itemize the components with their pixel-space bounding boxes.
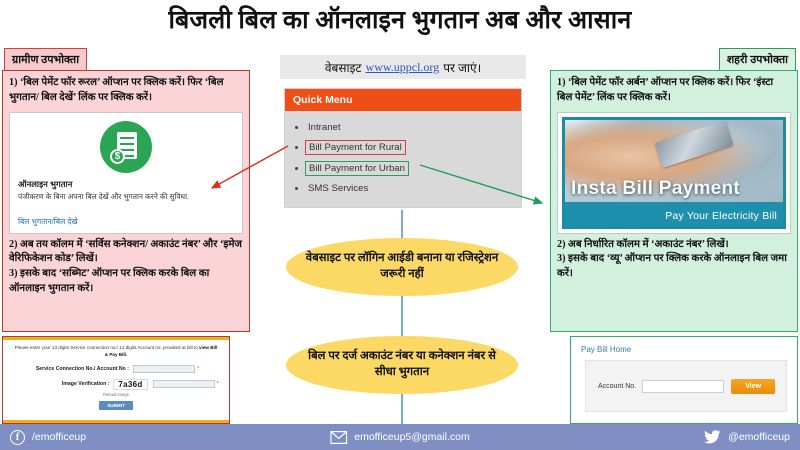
pay-bill-home-box: Account No. View bbox=[585, 360, 787, 412]
footer-email[interactable]: emofficeup5@gmail.com bbox=[330, 431, 470, 444]
rural-online-payment-card: $ ऑनलाइन भुगतान पंजीकरण के बिना अपना बिल… bbox=[9, 112, 243, 234]
rural-step-2: 2) अब तय कॉलम में ‘सर्विस कनेक्शन/ अकाउं… bbox=[9, 238, 243, 268]
reload-image-link[interactable]: Reload Image bbox=[3, 392, 229, 397]
urban-step-3: 3) इसके बाद ‘व्यू’ ऑप्शन पर क्लिक करके ऑ… bbox=[557, 252, 791, 282]
quick-menu-item-label: Bill Payment for Urban bbox=[305, 161, 409, 176]
page-title: बिजली बिल का ऑनलाइन भुगतान अब और आसान bbox=[0, 2, 800, 36]
website-strip: वेबसाइट www.uppcl.org पर जाएं। bbox=[280, 55, 526, 79]
email-address: emofficeup5@gmail.com bbox=[354, 431, 470, 443]
rural-card-heading: ऑनलाइन भुगतान bbox=[18, 179, 234, 190]
urban-insta-banner-card: Insta Bill Payment Pay Your Electricity … bbox=[557, 112, 791, 234]
website-suffix: पर जाएं। bbox=[443, 59, 481, 76]
quick-menu-item-bill-payment-urban[interactable]: Bill Payment for Urban bbox=[291, 159, 515, 178]
quick-menu-item-label: Intranet bbox=[305, 121, 344, 134]
service-connection-input[interactable] bbox=[133, 365, 195, 373]
twitter-handle: @emofficeup bbox=[728, 431, 790, 443]
facebook-handle: /emofficeup bbox=[32, 431, 86, 443]
infographic-root: बिजली बिल का ऑनलाइन भुगतान अब और आसान ग्… bbox=[0, 0, 800, 450]
view-button[interactable]: View bbox=[731, 379, 775, 394]
rural-form-note: Please enter your 13 digits Service conn… bbox=[3, 340, 229, 359]
rural-steps-2-3: 2) अब तय कॉलम में ‘सर्विस कनेक्शन/ अकाउं… bbox=[3, 234, 249, 302]
quick-menu-list: Intranet Bill Payment for Rural Bill Pay… bbox=[285, 111, 521, 207]
quick-menu-item-label: SMS Services bbox=[305, 182, 371, 195]
required-mark: * bbox=[217, 381, 219, 387]
bullet-icon bbox=[295, 126, 298, 129]
urban-panel: 1) ‘बिल पेमेंट फॉर अर्बन’ ऑप्शन पर क्लिक… bbox=[550, 70, 798, 332]
rural-step-1: 1) ‘बिल पेमेंट फॉर रूरल’ ऑप्शन पर क्लिक … bbox=[3, 71, 249, 110]
required-mark: * bbox=[197, 366, 199, 372]
uppcl-website-link[interactable]: www.uppcl.org bbox=[366, 60, 440, 75]
quick-menu-item-intranet[interactable]: Intranet bbox=[291, 119, 515, 136]
twitter-icon bbox=[704, 430, 721, 444]
quick-menu-item-bill-payment-rural[interactable]: Bill Payment for Rural bbox=[291, 138, 515, 157]
form-bottom-bar bbox=[3, 420, 229, 423]
image-verification-row: Image Verification : 7a36d * bbox=[3, 379, 229, 390]
rural-panel: 1) ‘बिल पेमेंट फॉर रूरल’ ऑप्शन पर क्लिक … bbox=[2, 70, 250, 332]
dollar-symbol: $ bbox=[110, 149, 125, 164]
rural-form-screenshot: Please enter your 13 digits Service conn… bbox=[2, 336, 230, 424]
bill-document-icon: $ bbox=[100, 121, 152, 173]
quick-menu-item-sms-services[interactable]: SMS Services bbox=[291, 180, 515, 197]
urban-step-1: 1) ‘बिल पेमेंट फॉर अर्बन’ ऑप्शन पर क्लिक… bbox=[551, 71, 797, 110]
service-connection-label: Service Connection No./ Account No : bbox=[33, 366, 129, 372]
image-verification-label: Image Verification : bbox=[13, 381, 109, 387]
badge-urban-consumer: शहरी उपभोक्ता bbox=[719, 48, 796, 72]
urban-steps-2-3: 2) अब निर्धारित कॉलम में ‘अकाउंट नंबर’ ल… bbox=[551, 234, 797, 287]
callout-no-registration: वेबसाइट पर लॉगिन आईडी बनाना या रजिस्ट्रे… bbox=[286, 238, 518, 296]
rural-step-3: 3) इसके बाद ‘सब्मिट’ ऑप्शन पर क्लिक करके… bbox=[9, 267, 243, 297]
quick-menu-item-label: Bill Payment for Rural bbox=[305, 140, 406, 155]
footer-twitter[interactable]: @emofficeup bbox=[704, 430, 790, 444]
submit-button[interactable]: SUBMIT bbox=[99, 401, 133, 410]
bullet-icon bbox=[295, 187, 298, 190]
website-prefix: वेबसाइट bbox=[325, 59, 362, 76]
badge-rural-consumer: ग्रामीण उपभोक्ता bbox=[4, 48, 87, 72]
captcha-text: 7a36d bbox=[113, 379, 147, 390]
insta-bill-payment-banner: Insta Bill Payment Pay Your Electricity … bbox=[562, 117, 786, 229]
insta-banner-subtitle: Pay Your Electricity Bill bbox=[665, 210, 777, 222]
rural-form-note-text: Please enter your 13 digits Service conn… bbox=[15, 345, 199, 350]
credit-card-graphic bbox=[654, 120, 733, 168]
image-verification-input[interactable] bbox=[153, 380, 215, 388]
callout-direct-payment: बिल पर दर्ज अकाउंट नंबर या कनेक्शन नंबर … bbox=[286, 336, 518, 394]
rural-card-description: पंजीकरण के बिना अपना बिल देखें और भुगतान… bbox=[18, 192, 234, 203]
social-footer: f /emofficeup emofficeup5@gmail.com @emo… bbox=[0, 424, 800, 450]
urban-form-screenshot: Pay Bill Home Account No. View bbox=[570, 336, 798, 424]
pay-bill-home-title: Pay Bill Home bbox=[571, 337, 797, 354]
account-no-label: Account No. bbox=[598, 383, 636, 390]
footer-facebook[interactable]: f /emofficeup bbox=[10, 430, 86, 445]
quick-menu-panel: Quick Menu Intranet Bill Payment for Rur… bbox=[284, 88, 522, 208]
quick-menu-header: Quick Menu bbox=[285, 89, 521, 111]
urban-step-2: 2) अब निर्धारित कॉलम में ‘अकाउंट नंबर’ ल… bbox=[557, 238, 791, 253]
account-no-input[interactable] bbox=[642, 380, 724, 393]
gmail-icon bbox=[330, 431, 347, 444]
insta-banner-title: Insta Bill Payment bbox=[571, 178, 740, 200]
service-connection-row: Service Connection No./ Account No : * bbox=[3, 365, 229, 373]
bullet-icon bbox=[295, 146, 298, 149]
bullet-icon bbox=[295, 167, 298, 170]
facebook-icon: f bbox=[10, 430, 25, 445]
rural-card-link[interactable]: बिल भुगतान/बिल देखे bbox=[18, 217, 78, 227]
